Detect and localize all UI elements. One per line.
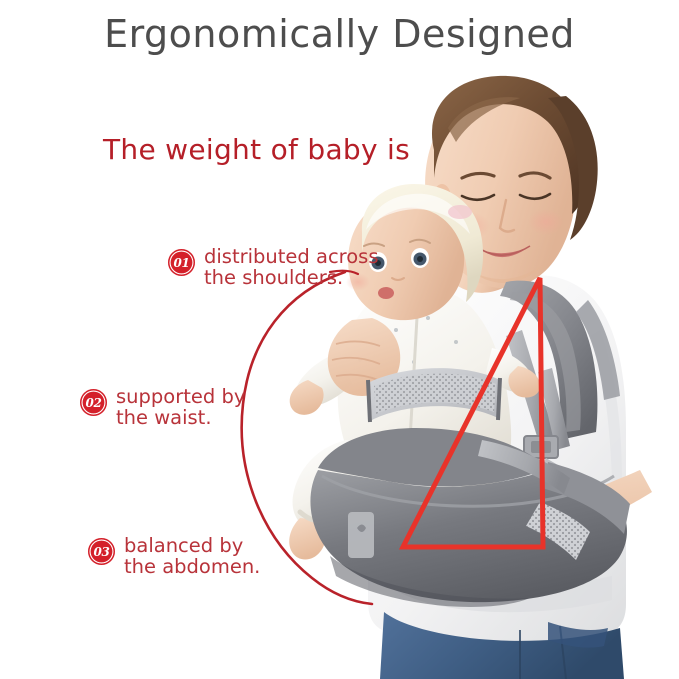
subtitle: The weight of baby is [103, 133, 410, 166]
callout-number-03: 03 [93, 546, 109, 558]
baby-mouth [378, 287, 394, 299]
callout-line2-03: the abdomen. [124, 556, 260, 577]
baby-eye-right-pupil [417, 256, 423, 262]
callout-text-03: balanced by the abdomen. [124, 535, 260, 577]
product-photo [0, 0, 679, 679]
callout-badge-03: 03 [88, 538, 115, 565]
callout-badge-01: 01 [168, 249, 195, 276]
cheek-right [528, 209, 564, 235]
hat-pink-motif [448, 205, 472, 219]
callout-line2-02: the waist. [116, 407, 245, 428]
callout-text-01: distributed across the shoulders. [204, 246, 379, 288]
strap-buckle-slot [531, 441, 551, 453]
belt-edge-left [368, 380, 370, 422]
callout-text-02: supported by the waist. [116, 386, 245, 428]
callout-number-01: 01 [173, 257, 189, 269]
belt-edge-right [498, 378, 500, 420]
callout-line1-03: balanced by [124, 534, 243, 557]
poster-root: Ergonomically Designed The weight of bab… [0, 0, 679, 679]
callout-02: 02 supported by the waist. [80, 386, 245, 428]
callout-badge-02: 02 [80, 389, 107, 416]
callout-number-02: 02 [85, 397, 101, 409]
callout-03: 03 balanced by the abdomen. [88, 535, 260, 577]
callout-01: 01 distributed across the shoulders. [168, 246, 379, 288]
callout-line1-02: supported by [116, 385, 245, 408]
callout-line2-01: the shoulders. [204, 267, 379, 288]
page-title: Ergonomically Designed [0, 12, 679, 56]
callout-line1-01: distributed across [204, 245, 379, 268]
logo-patch [348, 512, 374, 558]
